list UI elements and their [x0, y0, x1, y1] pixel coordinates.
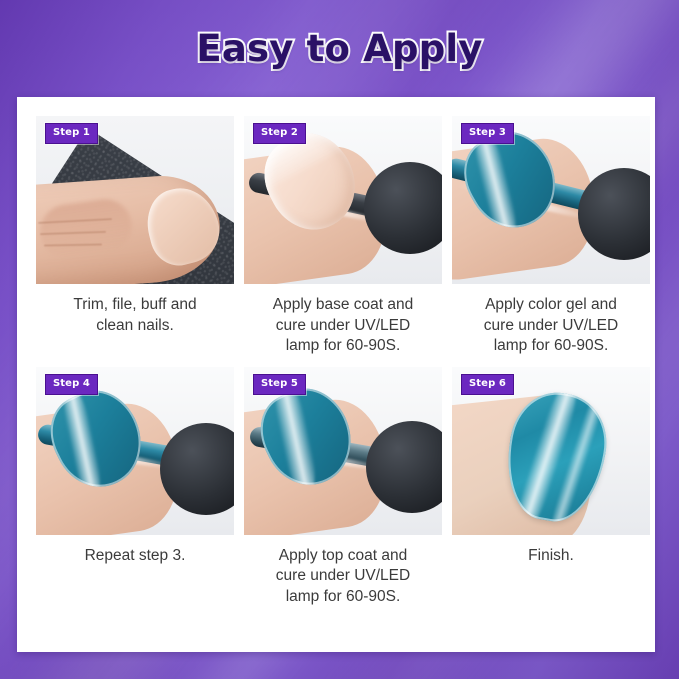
steps-card: Step 1 Trim, file, buff and clean nails.	[17, 97, 655, 652]
step-photo-2: Step 2	[244, 116, 442, 284]
steps-row-top: Step 1 Trim, file, buff and clean nails.	[36, 116, 640, 357]
step-badge: Step 1	[45, 123, 98, 144]
step-cell: Step 6 Finish.	[452, 367, 650, 608]
step-badge: Step 3	[461, 123, 514, 144]
step-photo-4: Step 4	[36, 367, 234, 535]
step-caption: Repeat step 3.	[36, 546, 234, 567]
step-badge: Step 5	[253, 374, 306, 395]
title-area: Easy to Apply	[0, 0, 679, 97]
steps-grid: Step 1 Trim, file, buff and clean nails.	[36, 116, 640, 608]
step-cell: Step 5 Apply top coat and cure under UV/…	[244, 367, 442, 608]
step-cell: Step 1 Trim, file, buff and clean nails.	[36, 116, 234, 357]
step-badge: Step 2	[253, 123, 306, 144]
step-caption: Apply color gel and cure under UV/LED la…	[452, 295, 650, 357]
step-caption: Apply top coat and cure under UV/LED lam…	[244, 546, 442, 608]
step-caption: Trim, file, buff and clean nails.	[36, 295, 234, 336]
step-photo-1: Step 1	[36, 116, 234, 284]
step-badge: Step 6	[461, 374, 514, 395]
step-caption: Apply base coat and cure under UV/LED la…	[244, 295, 442, 357]
promo-graphic: Easy to Apply Step 1	[0, 0, 679, 679]
step-badge: Step 4	[45, 374, 98, 395]
step-cell: Step 4 Repeat step 3.	[36, 367, 234, 608]
steps-row-bottom: Step 4 Repeat step 3.	[36, 367, 640, 608]
step-photo-3: Step 3	[452, 116, 650, 284]
page-title: Easy to Apply	[196, 27, 482, 70]
step-cell: Step 2 Apply base coat and cure under UV…	[244, 116, 442, 357]
step-caption: Finish.	[452, 546, 650, 567]
step-photo-6: Step 6	[452, 367, 650, 535]
step-cell: Step 3 Apply color gel and cure under UV…	[452, 116, 650, 357]
step-photo-5: Step 5	[244, 367, 442, 535]
